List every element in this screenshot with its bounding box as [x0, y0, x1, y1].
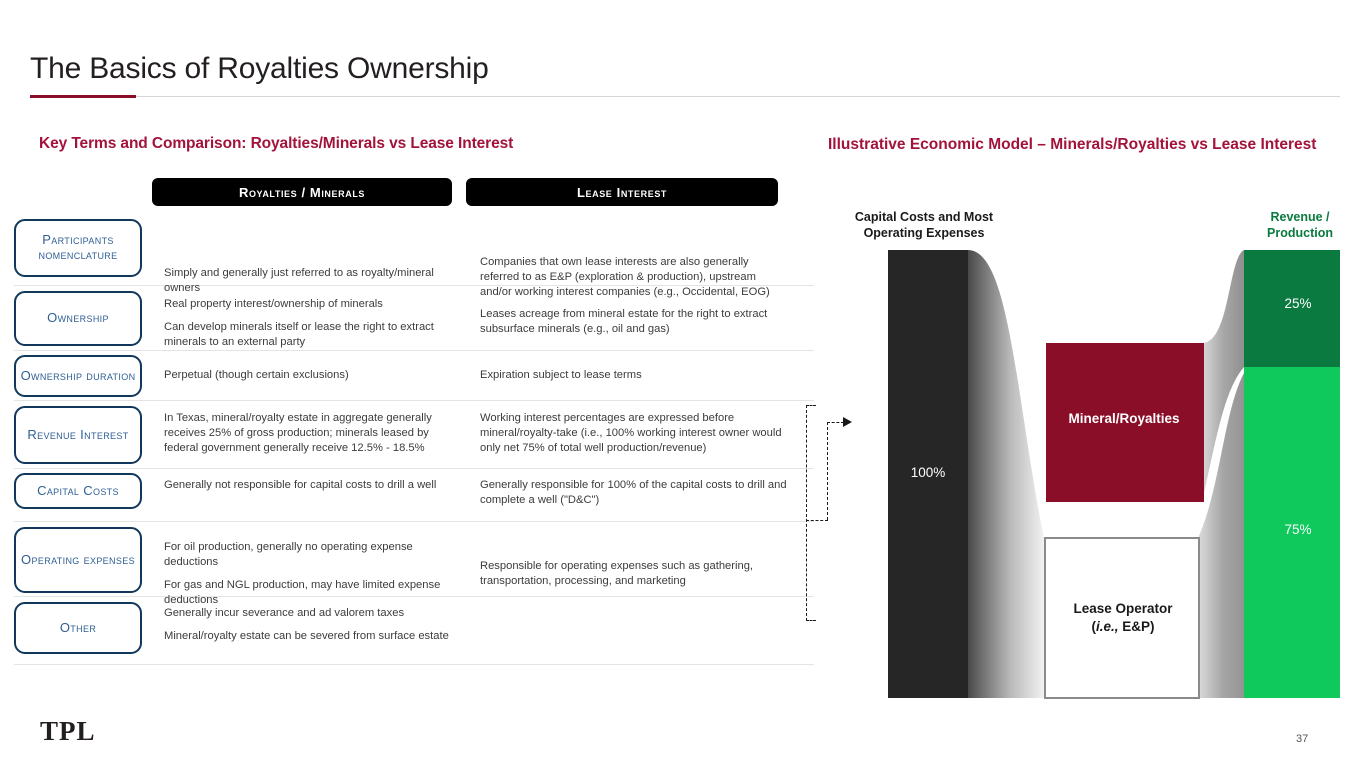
flow-source-to-operator	[968, 250, 1044, 698]
source-percent-label: 100%	[888, 465, 968, 480]
row-label: Ownership	[47, 311, 109, 326]
cell-text: Generally not responsible for capital co…	[164, 478, 464, 493]
cell-lease: Leases acreage from mineral estate for t…	[480, 307, 790, 337]
cell-lease: Generally responsible for 100% of the ca…	[480, 478, 790, 508]
cell-lease: Responsible for operating expenses such …	[480, 559, 790, 589]
table-row: Other Generally incur severance and ad v…	[14, 597, 814, 665]
cell-text: Working interest percentages are express…	[480, 411, 790, 456]
cell-text: Leases acreage from mineral estate for t…	[480, 307, 790, 337]
column-header-lease: Lease Interest	[466, 178, 778, 206]
node-lease-operator	[1045, 538, 1199, 698]
cell-text: Generally responsible for 100% of the ca…	[480, 478, 790, 508]
cell-lease: Expiration subject to lease terms	[480, 368, 790, 383]
cell-text: Responsible for operating expenses such …	[480, 559, 790, 589]
table-row: Participants nomenclature Simply and gen…	[14, 214, 814, 286]
cell-text: Can develop minerals itself or lease the…	[164, 320, 464, 350]
right-panel-heading: Illustrative Economic Model – Minerals/R…	[828, 135, 1328, 156]
row-label-box[interactable]: Ownership duration	[14, 355, 142, 397]
cell-royalties: Generally not responsible for capital co…	[164, 478, 464, 493]
row-label-box[interactable]: Ownership	[14, 291, 142, 346]
page-title: The Basics of Royalties Ownership	[30, 52, 489, 86]
cell-royalties: Generally incur severance and ad valorem…	[164, 606, 464, 644]
cell-text: Mineral/royalty estate can be severed fr…	[164, 629, 464, 644]
cell-text: Real property interest/ownership of mine…	[164, 297, 464, 312]
row-label-box[interactable]: Revenue Interest	[14, 406, 142, 464]
row-label: Operating expenses	[21, 553, 135, 568]
revenue-bottom-percent-label: 75%	[1258, 522, 1338, 537]
cell-royalties: Real property interest/ownership of mine…	[164, 297, 464, 350]
revenue-top-percent-label: 25%	[1258, 296, 1338, 311]
title-divider	[30, 96, 1340, 97]
cell-text: Generally incur severance and ad valorem…	[164, 606, 464, 621]
table-row: Operating expenses For oil production, g…	[14, 522, 814, 597]
cell-text: Expiration subject to lease terms	[480, 368, 790, 383]
diagram-caption-left: Capital Costs and Most Operating Expense…	[830, 210, 1018, 241]
diagram-caption-right: Revenue / Production	[1244, 210, 1356, 241]
title-accent-bar	[30, 95, 136, 98]
bracket-stem	[806, 405, 807, 621]
node-mineral-royalties	[1046, 343, 1204, 502]
row-label: Ownership duration	[21, 369, 136, 384]
table-row: Ownership duration Perpetual (though cer…	[14, 351, 814, 401]
page-number: 37	[1296, 733, 1336, 745]
cell-lease: Working interest percentages are express…	[480, 411, 790, 456]
tpl-logo: TPL	[40, 716, 96, 747]
table-row: Ownership Real property interest/ownersh…	[14, 286, 814, 351]
cell-royalties: Perpetual (though certain exclusions)	[164, 368, 464, 383]
table-row: Revenue Interest In Texas, mineral/royal…	[14, 401, 814, 469]
row-label-box[interactable]: Operating expenses	[14, 527, 142, 593]
cell-royalties: In Texas, mineral/royalty estate in aggr…	[164, 411, 464, 456]
bracket-top	[806, 405, 816, 406]
column-header-royalties: Royalties / Minerals	[152, 178, 452, 206]
row-label: Revenue Interest	[27, 428, 128, 443]
row-label: Other	[60, 621, 96, 636]
bracket-bottom	[806, 620, 816, 621]
cell-text: In Texas, mineral/royalty estate in aggr…	[164, 411, 464, 456]
left-panel-heading: Key Terms and Comparison: Royalties/Mine…	[39, 135, 513, 153]
table-row: Capital Costs Generally not responsible …	[14, 469, 814, 522]
row-label: Capital Costs	[37, 484, 119, 499]
row-label-box[interactable]: Participants nomenclature	[14, 219, 142, 277]
cell-text: Perpetual (though certain exclusions)	[164, 368, 464, 383]
row-label: Participants nomenclature	[16, 233, 140, 262]
row-label-box[interactable]: Capital Costs	[14, 473, 142, 509]
cell-text: For oil production, generally no operati…	[164, 540, 464, 570]
row-label-box[interactable]: Other	[14, 602, 142, 654]
